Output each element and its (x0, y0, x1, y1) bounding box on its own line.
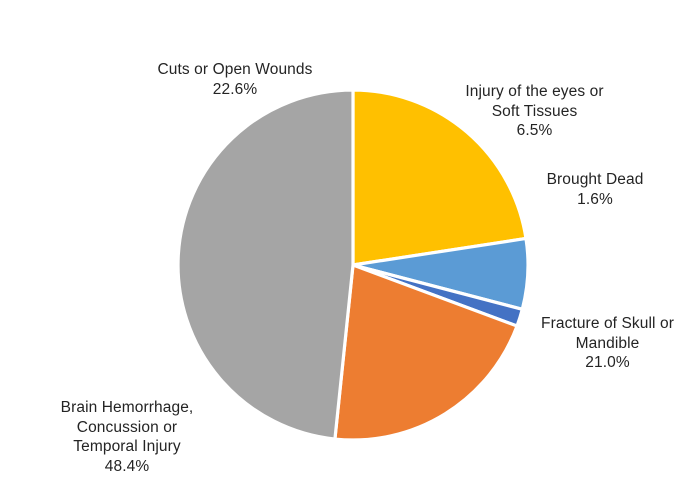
slice-label-value: 22.6% (110, 80, 360, 100)
slice-label-value: 21.0% (520, 353, 695, 373)
slice-label-text: Cuts or Open Wounds (158, 61, 313, 78)
slice-label-text: Fracture of Skull or Mandible (541, 315, 674, 352)
slice-label-text: Injury of the eyes or Soft Tissues (465, 83, 603, 120)
slice-label-text: Brought Dead (547, 171, 644, 188)
slice-label-value: 1.6% (505, 190, 685, 210)
slice-label-value: 6.5% (432, 121, 637, 141)
pie-chart: Cuts or Open Wounds 22.6%Injury of the e… (0, 0, 697, 484)
slice-label-value: 48.4% (12, 457, 242, 477)
slice-label-brain-hemorrhage-concussion-or-temporal-injury: Brain Hemorrhage, Concussion or Temporal… (12, 378, 242, 497)
slice-label-injury-of-the-eyes-or-soft-tissues: Injury of the eyes or Soft Tissues 6.5% (432, 62, 637, 161)
slice-label-cuts-or-open-wounds: Cuts or Open Wounds 22.6% (110, 40, 360, 119)
slice-label-fracture-of-skull-or-mandible: Fracture of Skull or Mandible 21.0% (520, 294, 695, 393)
slice-label-brought-dead: Brought Dead 1.6% (505, 150, 685, 229)
slice-label-text: Brain Hemorrhage, Concussion or Temporal… (61, 399, 194, 456)
